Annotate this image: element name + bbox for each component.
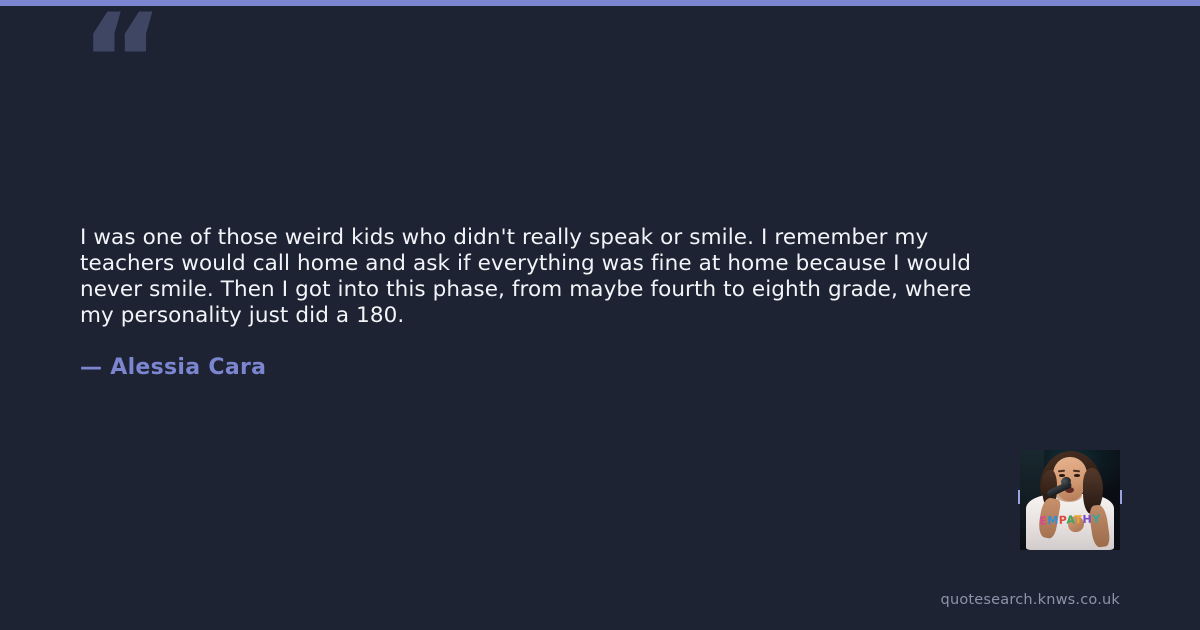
author-portrait: EMPATHY	[1020, 450, 1120, 550]
open-quote-icon: “	[80, 0, 162, 126]
shirt-letter: Y	[1092, 512, 1101, 525]
quote-card: “ I was one of those weird kids who didn…	[0, 0, 1200, 630]
portrait-tick-right	[1120, 490, 1122, 504]
shirt-letter: H	[1082, 513, 1092, 526]
top-accent-bar	[0, 0, 1200, 6]
portrait-eye-right	[1074, 474, 1080, 477]
portrait-frame: EMPATHY	[1020, 450, 1120, 550]
quote-attribution: — Alessia Cara	[80, 354, 266, 382]
source-url: quotesearch.knws.co.uk	[941, 591, 1120, 609]
quote-text: I was one of those weird kids who didn't…	[80, 225, 980, 329]
portrait-shirt-text: EMPATHY	[1039, 512, 1101, 527]
